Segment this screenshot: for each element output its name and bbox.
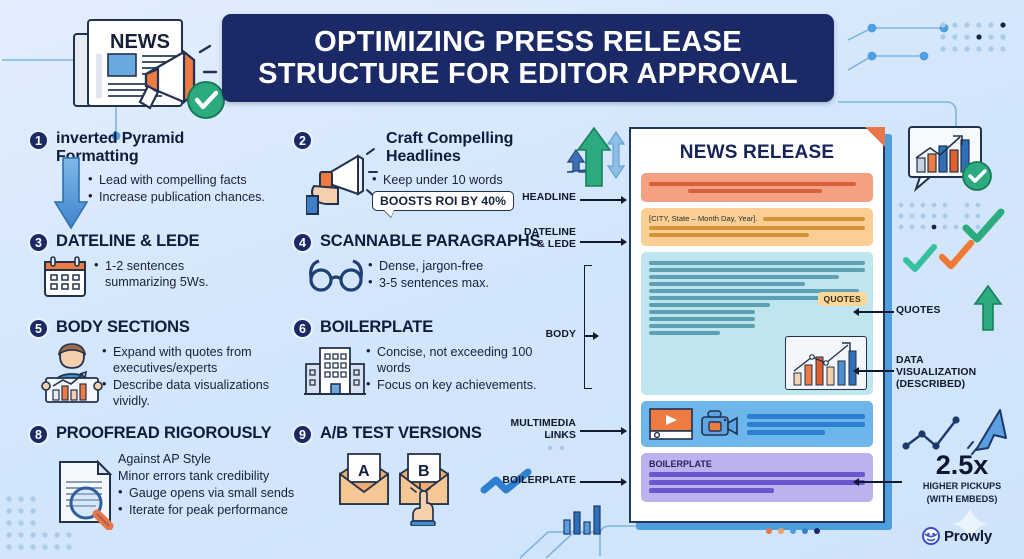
mockup-title: NEWS RELEASE <box>641 142 873 164</box>
step-9-title: A/B TEST VERSIONS <box>320 424 482 443</box>
leader-multimedia <box>580 430 626 432</box>
list-item: Gauge opens via small sends <box>118 485 298 501</box>
stat-caption-2: (WITH EMBEDS) <box>906 494 1018 505</box>
title-line-2: STRUCTURE FOR EDITOR APPROVAL <box>258 58 798 90</box>
step-3-dateline-lede: 3 DATELINE & LEDE 1-2 sentences summariz… <box>28 232 278 291</box>
mockup-dateline-band: [CITY, State – Month Day, Year]. <box>641 208 873 246</box>
glasses-icon <box>306 258 368 292</box>
person-presenting-chart-icon <box>40 342 106 404</box>
dot-grid-top-right <box>938 20 1014 66</box>
step-8-title: PROOFREAD RIGOROUSLY <box>56 424 271 443</box>
step-3-bullets: 1-2 sentences summarizing 5Ws. <box>94 258 254 290</box>
step-5-title: BODY SECTIONS <box>56 318 190 337</box>
step-4-bullets: Dense, jargon-free 3-5 sentences max. <box>368 258 542 291</box>
step-6-title: BOILERPLATE <box>320 318 433 337</box>
brand-logo: Prowly <box>922 527 992 545</box>
news-megaphone-icon: NEWS <box>66 4 236 124</box>
step-4-number: 4 <box>292 232 313 253</box>
step-9-number: 9 <box>292 424 313 445</box>
carousel-dots[interactable] <box>766 528 820 534</box>
step-5-number: 5 <box>28 318 49 339</box>
video-camera-icon <box>700 409 740 439</box>
list-item: Focus on key achievements. <box>366 377 538 393</box>
page-fold-corner <box>865 127 885 147</box>
video-player-icon <box>649 408 693 440</box>
quotes-chip: QUOTES <box>818 292 868 306</box>
chart-bubble-check-icon <box>904 124 1000 208</box>
list-item: Lead with compelling facts <box>88 172 276 188</box>
step-1-inverted-pyramid: 1 inverted Pyramid Formatting Lead with … <box>28 130 276 206</box>
mockup-chart-icon <box>785 336 867 390</box>
growth-arrows-icon <box>560 126 630 192</box>
step-1-bullets: Lead with compelling facts Increase publ… <box>88 172 276 205</box>
list-item: 1-2 sentences summarizing 5Ws. <box>94 258 254 290</box>
leader-headline <box>580 199 626 201</box>
envelope-a-label: A <box>358 463 370 480</box>
page-title: OPTIMIZING PRESS RELEASE STRUCTURE FOR E… <box>222 14 834 102</box>
megaphone-hand-icon <box>306 146 380 218</box>
stat-highlight: 2.5x HIGHER PICKUPS (WITH EMBEDS) <box>906 452 1018 505</box>
label-headline: HEADLINE <box>498 192 576 204</box>
list-item: 3-5 sentences max. <box>368 275 542 291</box>
step-6-boilerplate: 6 BOILERPLATE Concise, not exceeding 100… <box>292 318 542 394</box>
label-boilerplate: BOILERPLATE <box>488 475 576 487</box>
calendar-icon <box>42 256 88 298</box>
mockup-multimedia-band <box>641 401 873 447</box>
check-teal-icon <box>902 244 938 274</box>
step-2-bullets: Keep under 10 words <box>372 172 532 188</box>
up-arrow-green-icon <box>972 283 1004 333</box>
list-item: Keep under 10 words <box>372 172 532 188</box>
ab-envelope-b-icon: B <box>396 450 466 526</box>
ab-envelopes-icon: A <box>336 450 398 512</box>
leader-quotes <box>854 311 894 313</box>
mockup-boilerplate-band: BOILERPLATE <box>641 453 873 502</box>
list-item: Concise, not exceeding 100 words <box>366 344 538 376</box>
leader-body <box>584 335 598 337</box>
svg-text:NEWS: NEWS <box>110 31 170 53</box>
check-green-large-icon <box>962 208 1006 244</box>
label-body: BODY <box>530 329 576 341</box>
stat-value: 2.5x <box>906 452 1018 479</box>
list-item: Expand with quotes from executives/exper… <box>102 344 288 376</box>
infographic-canvas: NEWS OPTIMIZING PRESS RELEASE STRUCTURE … <box>0 0 1024 559</box>
list-item: Describe data visualizations vividly. <box>102 377 288 409</box>
mockup-headline-band <box>641 173 873 202</box>
brand-name: Prowly <box>944 528 992 545</box>
list-item: Dense, jargon-free <box>368 258 542 274</box>
boilerplate-heading: BOILERPLATE <box>649 459 865 469</box>
cursor-arrow-icon <box>966 408 1012 456</box>
check-orange-icon <box>938 240 976 272</box>
dateline-text: [CITY, State – Month Day, Year]. <box>649 214 758 223</box>
step-2-title: Craft Compelling Headlines <box>386 130 532 166</box>
step-8-number: 8 <box>28 424 49 445</box>
down-arrow-icon <box>54 156 88 232</box>
list-item: Minor errors tank credibility <box>118 468 298 484</box>
step-3-number: 3 <box>28 232 49 253</box>
body-bracket <box>584 265 592 389</box>
leader-dataviz <box>854 370 894 372</box>
step-6-number: 6 <box>292 318 313 339</box>
step-2-headlines: 2 Craft Compelling Headlines Keep under … <box>292 130 532 211</box>
stat-caption-1: HIGHER PICKUPS <box>906 481 1018 492</box>
label-quotes: QUOTES <box>896 305 976 317</box>
office-building-icon <box>304 342 366 398</box>
label-dateline-lede: DATELINE & LEDE <box>492 227 576 251</box>
list-item: Against AP Style <box>118 451 298 467</box>
document-magnifier-icon <box>52 458 124 530</box>
label-multimedia-links: MULTIMEDIA LINKS <box>484 418 576 442</box>
bar-chart-mini-icon <box>562 502 606 536</box>
step-8-proofread: 8 PROOFREAD RIGOROUSLY Against AP Style … <box>28 424 296 519</box>
leader-stat <box>854 481 902 483</box>
envelope-b-label: B <box>418 463 430 480</box>
step-1-number: 1 <box>28 130 49 151</box>
mockup-body-band: QUOTES <box>641 252 873 395</box>
step-8-lines: Against AP Style Minor errors tank credi… <box>118 451 298 518</box>
status-badge: BOOSTS ROI BY 40% <box>372 191 514 211</box>
label-data-visualization: DATA VISUALIZATION (DESCRIBED) <box>896 355 1006 391</box>
prowly-globe-icon <box>922 527 940 545</box>
leader-boilerplate <box>580 481 626 483</box>
leader-dateline <box>580 241 626 243</box>
list-item: Increase publication chances. <box>88 189 276 205</box>
step-5-body-sections: 5 BODY SECTIONS Expand with quotes from … <box>28 318 288 410</box>
list-item: Iterate for peak performance <box>118 502 298 518</box>
step-5-bullets: Expand with quotes from executives/exper… <box>102 344 288 409</box>
title-line-1: OPTIMIZING PRESS RELEASE <box>314 26 742 58</box>
news-release-mockup: NEWS RELEASE [CITY, State – Month Day, Y… <box>629 127 885 523</box>
step-3-title: DATELINE & LEDE <box>56 232 199 251</box>
step-6-bullets: Concise, not exceeding 100 words Focus o… <box>366 344 538 393</box>
